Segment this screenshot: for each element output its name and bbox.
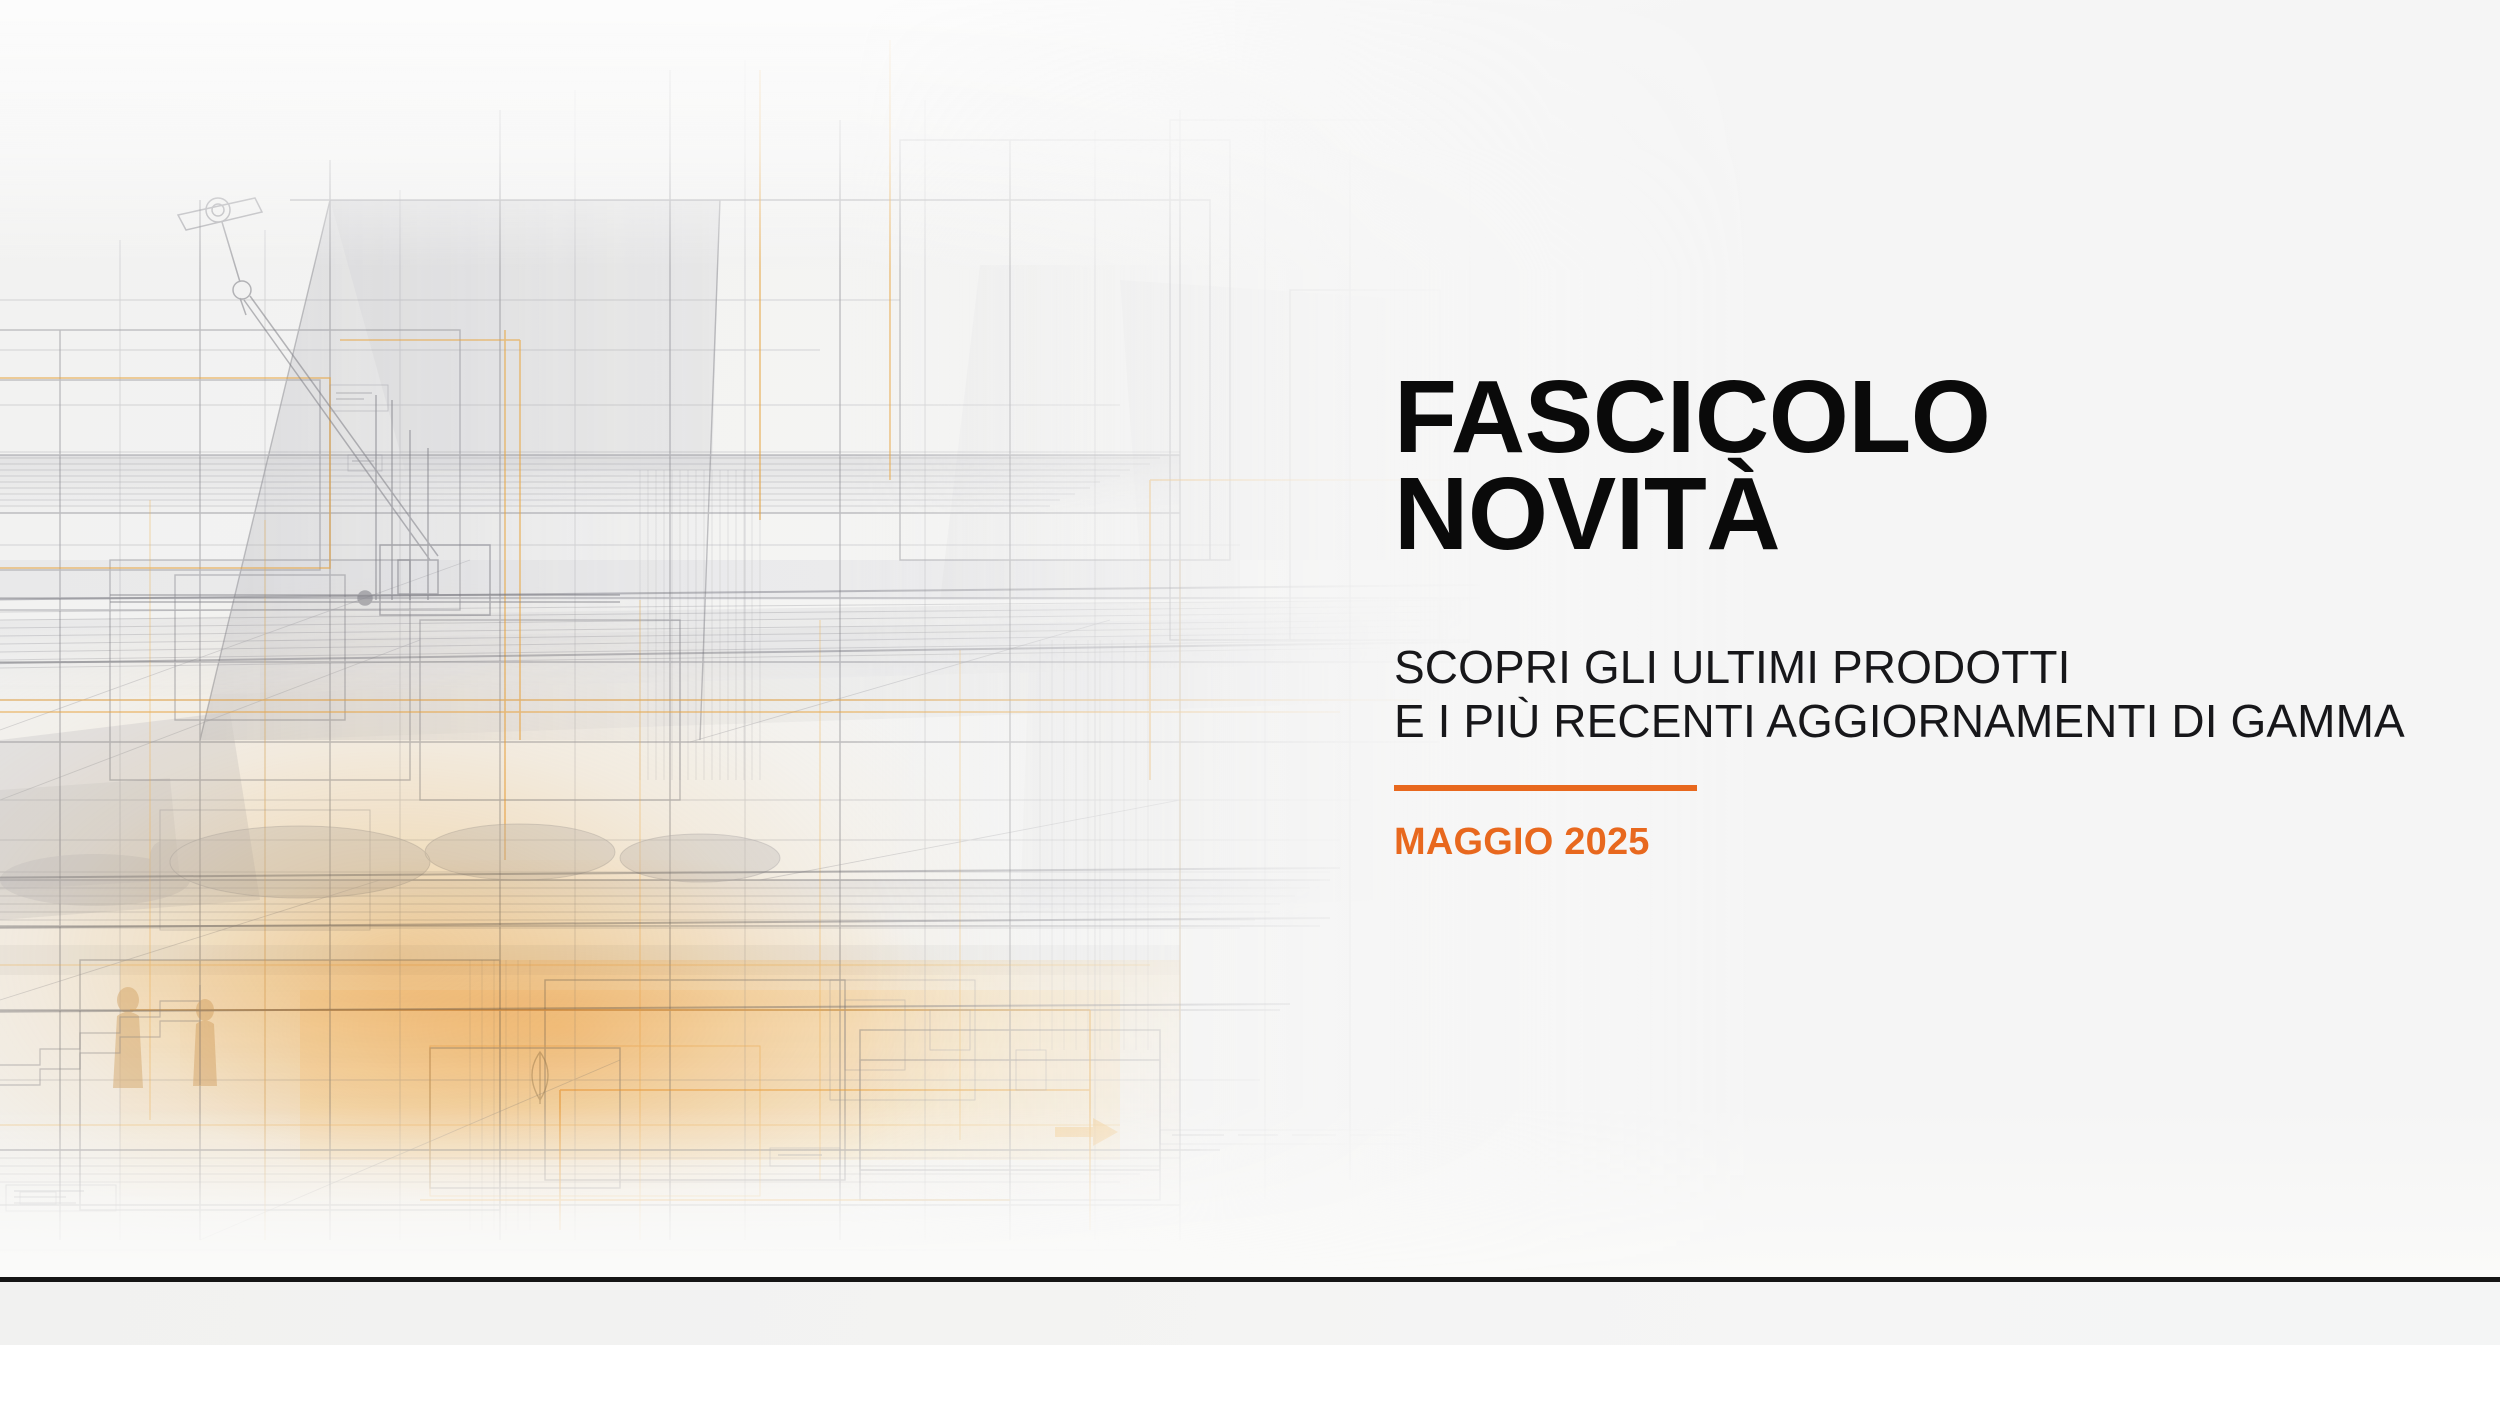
page-subtitle: SCOPRI GLI ULTIMI PRODOTTI E I PIÙ RECEN…: [1394, 640, 2414, 748]
subtitle-rule-spacer: [1394, 748, 2414, 785]
rule-date-spacer: [1394, 791, 2414, 820]
page-title: FASCICOLO NOVITÀ: [1394, 368, 2414, 562]
title-subtitle-spacer: [1394, 562, 2414, 640]
footer-band: [0, 1282, 2500, 1345]
publication-date: MAGGIO 2025: [1394, 820, 2414, 864]
cover-slide: FASCICOLO NOVITÀ SCOPRI GLI ULTIMI PRODO…: [0, 0, 2500, 1407]
hero-text-block: FASCICOLO NOVITÀ SCOPRI GLI ULTIMI PRODO…: [1394, 368, 2414, 864]
page-bottom-margin: [0, 1345, 2500, 1407]
